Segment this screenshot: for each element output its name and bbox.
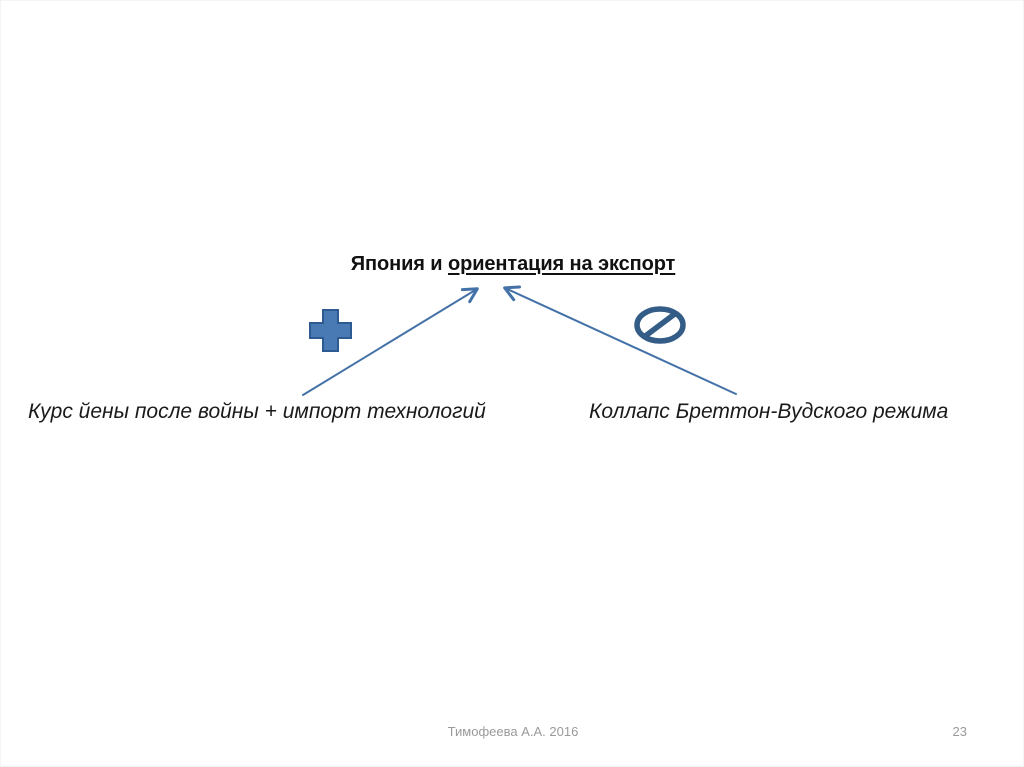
cause-label-left: Курс йены после войны + импорт технологи… — [28, 399, 486, 425]
cause-label-right: Коллапс Бреттон-Вудского режима — [589, 399, 948, 425]
page-title-prefix: Япония и — [351, 253, 448, 275]
page-number: 23 — [953, 724, 967, 740]
plus-sign-icon — [310, 310, 351, 351]
no-entry-sign-icon — [637, 309, 683, 341]
arrow-left-to-title — [303, 289, 477, 395]
page-title: Япония и ориентация на экспорт — [1, 252, 1024, 276]
diagram-vector-layer — [1, 1, 1024, 767]
arrow-right-to-title — [505, 288, 736, 394]
footer-attribution: Тимофеева А.А. 2016 — [1, 724, 1024, 740]
slide-canvas: Япония и ориентация на экспорт Курс йены… — [0, 0, 1024, 767]
page-title-emphasis: ориентация на экспорт — [448, 253, 675, 275]
